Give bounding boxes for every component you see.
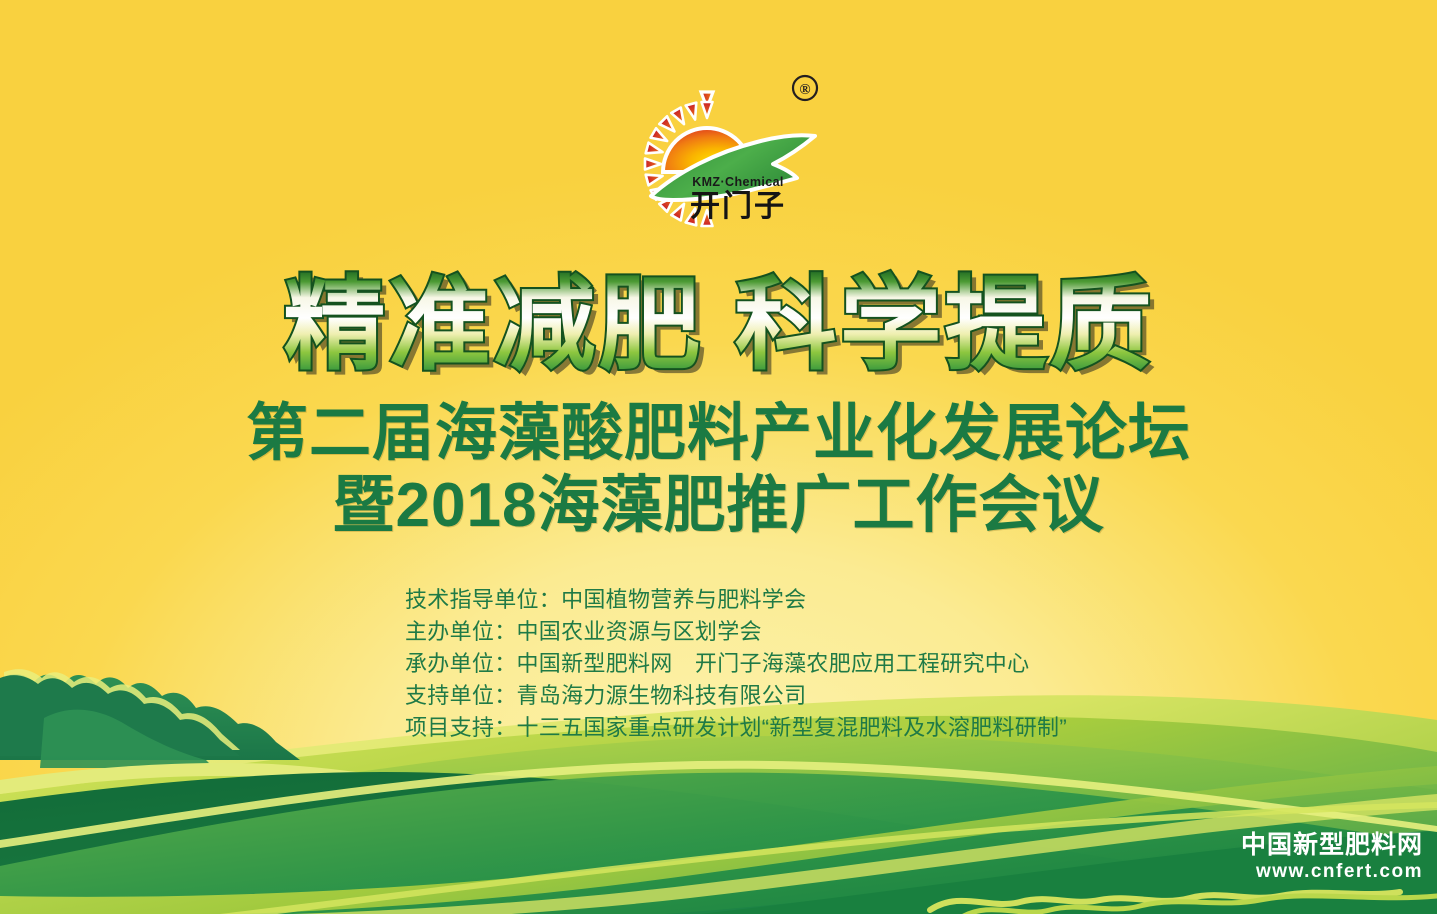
subtitle-line-1: 第二届海藻酸肥料产业化发展论坛 (0, 398, 1437, 470)
mountain-silhouette (0, 669, 300, 768)
subtitle-line-2: 暨2018海藻肥推广工作会议 (0, 470, 1437, 542)
info-line-co-organizer: 承办单位：中国新型肥料网 开门子海藻农肥应用工程研究中心 (405, 649, 1165, 679)
info-line-technical-guidance: 技术指导单位：中国植物营养与肥料学会 (405, 585, 1165, 615)
site-watermark: 中国新型肥料网 www.cnfert.com (1241, 830, 1423, 884)
company-logo: ® KMZ·Chemical 开门子 (633, 68, 833, 243)
registered-trademark-icon: ® (793, 76, 817, 100)
info-line-project-support: 项目支持：十三五国家重点研发计划“新型复混肥料及水溶肥料研制” (405, 713, 1165, 743)
info-line-organizer: 主办单位：中国农业资源与区划学会 (405, 617, 1165, 647)
registered-mark-label: ® (799, 82, 810, 98)
watermark-site-url: www.cnfert.com (1241, 860, 1423, 884)
conference-banner: ® KMZ·Chemical 开门子 精 (0, 0, 1437, 914)
headline: 精准减肥 科学提质 精准减肥 科学提质 (0, 268, 1437, 393)
info-line-supporter: 支持单位：青岛海力源生物科技有限公司 (405, 681, 1165, 711)
organizer-info-block: 技术指导单位：中国植物营养与肥料学会 主办单位：中国农业资源与区划学会 承办单位… (405, 585, 1165, 745)
logo-brand-latin: KMZ·Chemical (692, 175, 784, 189)
headline-text: 精准减肥 科学提质 (283, 268, 1154, 382)
subtitle-block: 第二届海藻酸肥料产业化发展论坛 暨2018海藻肥推广工作会议 (0, 398, 1437, 542)
logo-brand-cn: 开门子 (690, 190, 786, 223)
watermark-site-name: 中国新型肥料网 (1241, 830, 1423, 860)
